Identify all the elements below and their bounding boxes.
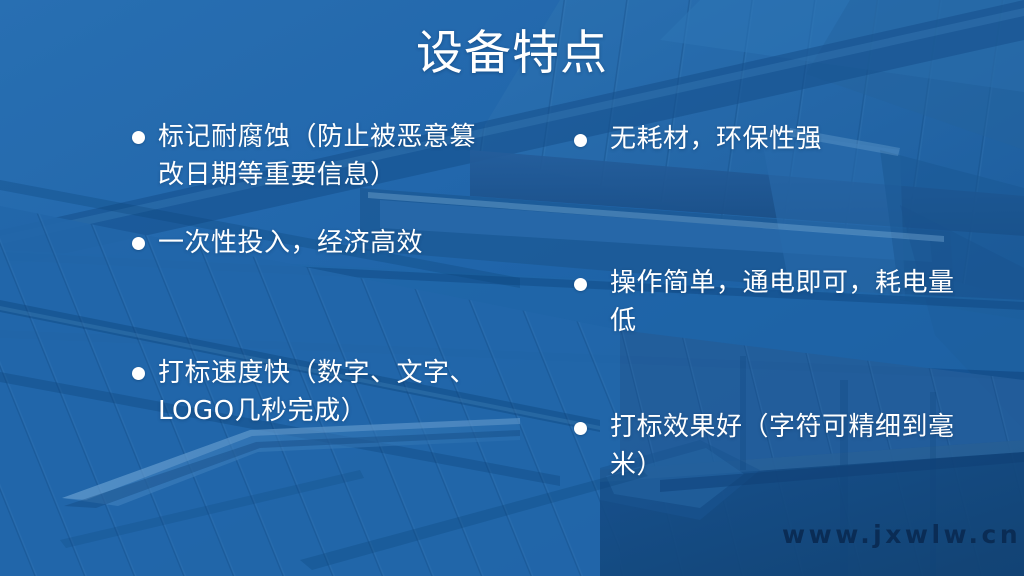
presentation-slide: 设备特点 标记耐腐蚀（防止被恶意篡改日期等重要信息） 一次性投入，经济高效 打标… [0,0,1024,576]
bullet-text: 一次性投入，经济高效 [158,228,423,258]
bullet-item: 打标效果好（字符可精细到毫米） [568,408,958,484]
site-watermark: www.jxwlw.cn [782,522,1021,547]
bullet-text: 无耗材，环保性强 [610,124,822,154]
bullet-dot-icon [574,278,587,291]
bullet-item: 无耗材，环保性强 [568,120,958,158]
bullet-dot-icon [132,237,145,250]
bullet-column-right: 无耗材，环保性强 操作简单，通电即可，耗电量低 打标效果好（字符可精细到毫米） [568,118,958,484]
bullet-item: 操作简单，通电即可，耗电量低 [568,264,958,340]
bullet-column-left: 标记耐腐蚀（防止被恶意篡改日期等重要信息） 一次性投入，经济高效 打标速度快（数… [132,118,492,430]
bullet-text: 打标效果好（字符可精细到毫米） [610,412,955,480]
bullet-dot-icon [574,134,587,147]
bullet-dot-icon [574,422,587,435]
bullet-text: 操作简单，通电即可，耗电量低 [610,268,955,336]
bullet-dot-icon [132,131,145,144]
slide-title: 设备特点 [0,28,1024,81]
bullet-item: 打标速度快（数字、文字、LOGO几秒完成） [132,354,492,430]
bullet-dot-icon [132,367,145,380]
bullet-item: 一次性投入，经济高效 [132,224,492,262]
bullet-text: 标记耐腐蚀（防止被恶意篡改日期等重要信息） [158,122,476,190]
bullet-text: 打标速度快（数字、文字、LOGO几秒完成） [158,358,476,426]
bullet-item: 标记耐腐蚀（防止被恶意篡改日期等重要信息） [132,118,492,194]
